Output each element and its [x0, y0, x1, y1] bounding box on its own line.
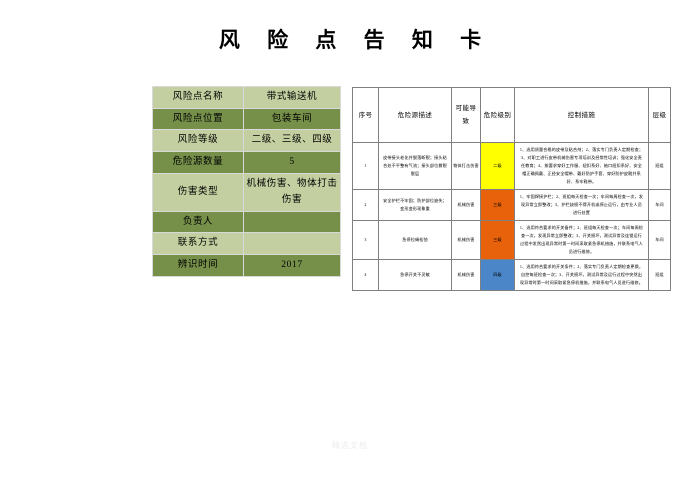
info-label: 风险点位置: [153, 108, 244, 130]
cell-tier: 班组: [649, 143, 671, 190]
table-row: 4 急停开关不灵敏 机械伤害 四级 1、选用符合要求的开关条件；2、落实专门负责…: [353, 259, 671, 290]
table-row: 伤害类型 机械伤害、物体打击伤害: [153, 173, 341, 211]
info-label: 联系方式: [153, 233, 244, 255]
info-label: 风险等级: [153, 130, 244, 152]
cell-level: 四级: [481, 259, 515, 290]
table-row: 负责人: [153, 211, 341, 233]
info-value: [244, 211, 341, 233]
cell-measures: 1、选用符合要求的开关备件；2、班组每天检查一次；车间每周检查一次，发现异常立即…: [515, 220, 649, 259]
info-value: 机械伤害、物体打击伤害: [244, 173, 341, 211]
info-value: [244, 233, 341, 255]
table-header-row: 序号 危险源描述 可能导致 危险级别 控制措施 层级: [353, 88, 671, 143]
table-row: 危险源数量 5: [153, 151, 341, 173]
info-label: 伤害类型: [153, 173, 244, 211]
header-level: 危险级别: [481, 88, 515, 143]
cell-measures: 1、选用质量合格的皮带及粘合剂；2、落实专门负责人定期检查；3、对职工进行皮带机…: [515, 143, 649, 190]
info-value: 包装车间: [244, 108, 341, 130]
header-no: 序号: [353, 88, 379, 143]
info-value: 带式输送机: [244, 87, 341, 109]
cell-measures: 1、牢固焊接护栏；2、班组每天检查一次；车间每周检查一次，发现异常立即整改；3、…: [515, 189, 649, 220]
cell-description: 皮带接头老化并脱落断裂；接头粘合处不平整有气流；接头部位撕裂脱层: [379, 143, 452, 190]
cell-tier: 班组: [649, 259, 671, 290]
header-tier: 层级: [649, 88, 671, 143]
cell-level: 二级: [481, 143, 515, 190]
header-consequence: 可能导致: [452, 88, 481, 143]
cell-tier: 车间: [649, 189, 671, 220]
table-row: 1 皮带接头老化并脱落断裂；接头粘合处不平整有气流；接头部位撕裂脱层 物体打击伤…: [353, 143, 671, 190]
table-row: 风险等级 二级、三级、四级: [153, 130, 341, 152]
cell-no: 3: [353, 220, 379, 259]
info-label: 危险源数量: [153, 151, 244, 173]
cell-no: 2: [353, 189, 379, 220]
cell-description: 急停开关不灵敏: [379, 259, 452, 290]
cell-consequence: 机械伤害: [452, 220, 481, 259]
info-value: 2017: [244, 255, 341, 277]
info-value: 二级、三级、四级: [244, 130, 341, 152]
cell-no: 1: [353, 143, 379, 190]
table-row: 2 安全护栏不牢固；防护部位缺失；变形变形现象重 机械伤害 三级 1、牢固焊接护…: [353, 189, 671, 220]
cell-description: 安全护栏不牢固；防护部位缺失；变形变形现象重: [379, 189, 452, 220]
cell-consequence: 机械伤害: [452, 259, 481, 290]
header-measures: 控制措施: [515, 88, 649, 143]
header-description: 危险源描述: [379, 88, 452, 143]
info-label: 风险点名称: [153, 87, 244, 109]
info-label: 辨识时间: [153, 255, 244, 277]
table-row: 辨识时间 2017: [153, 255, 341, 277]
cell-measures: 1、选用符合要求的开关条件；2、落实专门负责人定期检查更换，自控每班检查一次；3…: [515, 259, 649, 290]
table-row: 风险点名称 带式输送机: [153, 87, 341, 109]
table-row: 3 急停拉绳松弛 机械伤害 三级 1、选用符合要求的开关备件；2、班组每天检查一…: [353, 220, 671, 259]
cell-tier: 车间: [649, 220, 671, 259]
risk-info-table: 风险点名称 带式输送机 风险点位置 包装车间 风险等级 二级、三级、四级 危险源…: [152, 86, 341, 277]
cell-consequence: 物体打击伤害: [452, 143, 481, 190]
info-label: 负责人: [153, 211, 244, 233]
cell-consequence: 机械伤害: [452, 189, 481, 220]
cell-level: 三级: [481, 189, 515, 220]
hazard-source-table: 序号 危险源描述 可能导致 危险级别 控制措施 层级 1 皮带接头老化并脱落断裂…: [352, 87, 671, 291]
watermark-text: 精选文档: [0, 440, 700, 451]
cell-description: 急停拉绳松弛: [379, 220, 452, 259]
cell-level: 三级: [481, 220, 515, 259]
cell-no: 4: [353, 259, 379, 290]
page-title: 风 险 点 告 知 卡: [0, 24, 700, 54]
info-value: 5: [244, 151, 341, 173]
table-row: 联系方式: [153, 233, 341, 255]
table-row: 风险点位置 包装车间: [153, 108, 341, 130]
